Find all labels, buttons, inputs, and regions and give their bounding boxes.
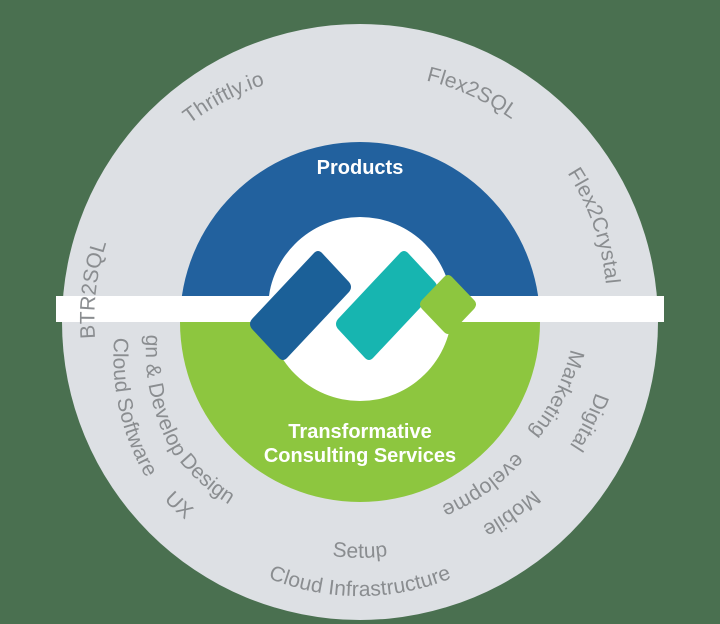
consulting-label-line1: Transformative <box>288 421 431 443</box>
svg-text:Setup: Setup <box>332 538 389 563</box>
consulting-label-line2: Consulting Services <box>264 445 456 467</box>
products-label: Products <box>317 157 404 179</box>
wheel-graphic: Products Transformative Consulting Servi… <box>0 0 720 624</box>
products-half-label: Products <box>317 157 404 179</box>
infographic-root: Products Transformative Consulting Servi… <box>0 0 720 624</box>
